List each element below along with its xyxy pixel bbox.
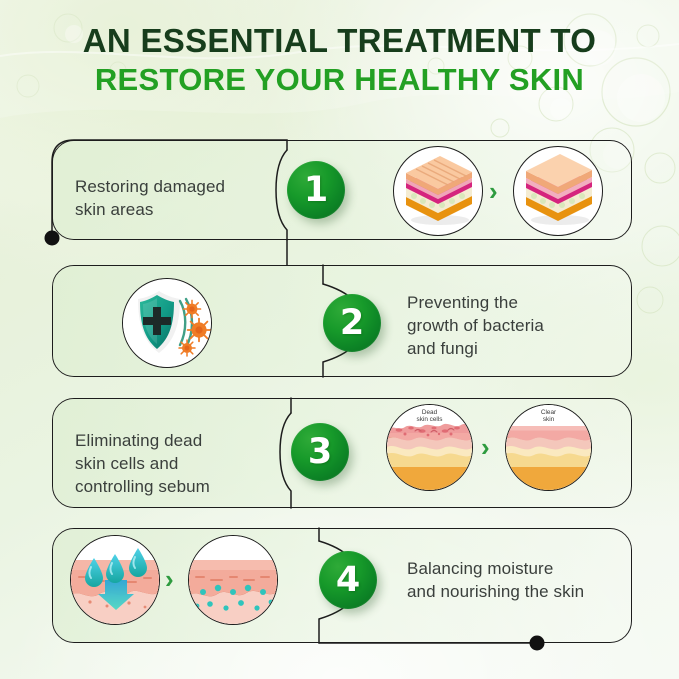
step-3-text: Eliminating dead skin cells and controll…	[75, 430, 285, 499]
svg-text:skin cells: skin cells	[417, 416, 443, 423]
svg-text:skin: skin	[543, 416, 555, 423]
shield-antibacterial-icon	[122, 278, 212, 368]
step-badge-1-number: 1	[304, 173, 328, 208]
step-4-arrow-icon: ›	[165, 566, 174, 592]
step-badge-4[interactable]: 4	[319, 551, 377, 609]
step-1-text: Restoring damaged skin areas	[75, 176, 280, 222]
step-2-text: Preventing the growth of bacteria and fu…	[407, 292, 607, 361]
step-3-arrow-icon: ›	[481, 434, 490, 460]
step-badge-2-number: 2	[340, 306, 364, 341]
damaged-skin-layers-icon	[393, 146, 483, 236]
step-4-text: Balancing moisture and nourishing the sk…	[407, 558, 627, 604]
step-1-arrow-icon: ›	[489, 178, 498, 204]
dead-skin-cells-icon: Dead skin cells	[386, 404, 473, 491]
infographic-canvas: AN ESSENTIAL TREATMENT TO RESTORE YOUR H…	[0, 0, 679, 679]
svg-text:Dead: Dead	[422, 409, 438, 416]
step-badge-1[interactable]: 1	[287, 161, 345, 219]
moisture-absorption-icon	[70, 535, 160, 625]
svg-text:Clear: Clear	[541, 409, 557, 416]
step-badge-3-number: 3	[308, 435, 332, 470]
step-badge-3[interactable]: 3	[291, 423, 349, 481]
clear-skin-icon: Clear skin	[505, 404, 592, 491]
step-badge-2[interactable]: 2	[323, 294, 381, 352]
title-line-2: RESTORE YOUR HEALTHY SKIN	[0, 64, 679, 97]
title-line-1: AN ESSENTIAL TREATMENT TO	[0, 24, 679, 59]
header: AN ESSENTIAL TREATMENT TO RESTORE YOUR H…	[0, 24, 679, 97]
hydrated-skin-icon	[188, 535, 278, 625]
restored-skin-layers-icon	[513, 146, 603, 236]
step-badge-4-number: 4	[336, 563, 360, 598]
